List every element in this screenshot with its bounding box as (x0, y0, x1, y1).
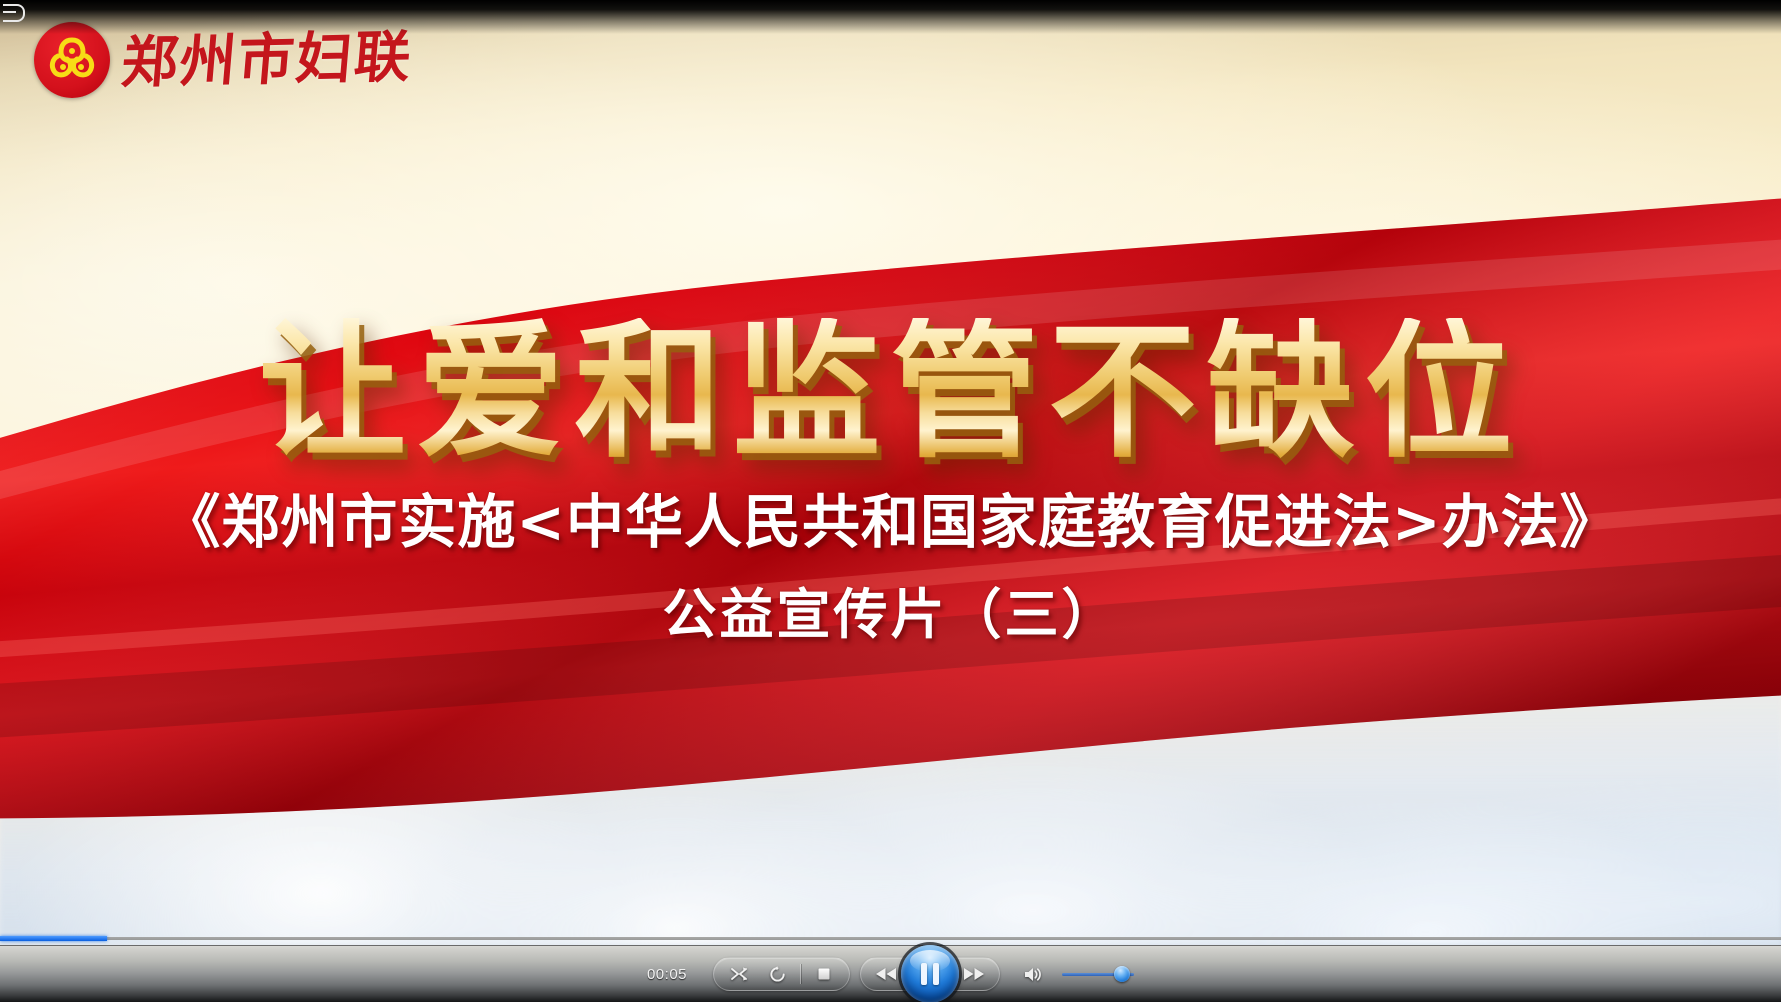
transport-main-group (860, 957, 1000, 991)
seek-track[interactable] (0, 937, 1781, 940)
elapsed-time: 00:05 (647, 966, 687, 983)
seek-progress (0, 936, 107, 941)
rewind-icon (873, 966, 899, 982)
repeat-button[interactable] (758, 959, 796, 989)
transport-left-group (713, 957, 850, 991)
cloud-layer (0, 510, 1781, 945)
shuffle-button[interactable] (720, 959, 758, 989)
video-stage[interactable]: 让爱和监管不缺位 《郑州市实施<中华人民共和国家庭教育促进法>办法》 公益宣传片… (0, 0, 1781, 945)
shuffle-icon (730, 966, 748, 982)
media-player-window: 让爱和监管不缺位 《郑州市实施<中华人民共和国家庭教育促进法>办法》 公益宣传片… (0, 0, 1781, 1002)
headline-block: 让爱和监管不缺位 (0, 318, 1781, 466)
top-vignette (0, 0, 1781, 34)
page-title: 让爱和监管不缺位 (259, 318, 1523, 466)
play-pause-button[interactable] (901, 945, 959, 1002)
player-controls-bar: 00:05 (0, 945, 1781, 1002)
play-pause-wrap (899, 943, 961, 1002)
mute-button[interactable] (1014, 959, 1052, 989)
volume-icon (1023, 966, 1043, 983)
subtitle-line-1: 《郑州市实施<中华人民共和国家庭教育促进法>办法》 (0, 493, 1781, 551)
fast-forward-icon (961, 966, 987, 982)
pause-icon (921, 963, 939, 985)
repeat-icon (769, 966, 786, 983)
window-restore-icon[interactable] (3, 4, 25, 22)
volume-control (1014, 959, 1134, 989)
volume-slider[interactable] (1062, 965, 1134, 983)
organization-name: 郑州市妇联 (119, 29, 414, 91)
stop-icon (816, 966, 832, 982)
volume-knob[interactable] (1114, 966, 1130, 982)
stop-button[interactable] (805, 959, 843, 989)
control-divider (800, 964, 801, 984)
seek-bar[interactable] (0, 933, 1781, 945)
subtitle-line-2: 公益宣传片（三） (0, 588, 1781, 642)
